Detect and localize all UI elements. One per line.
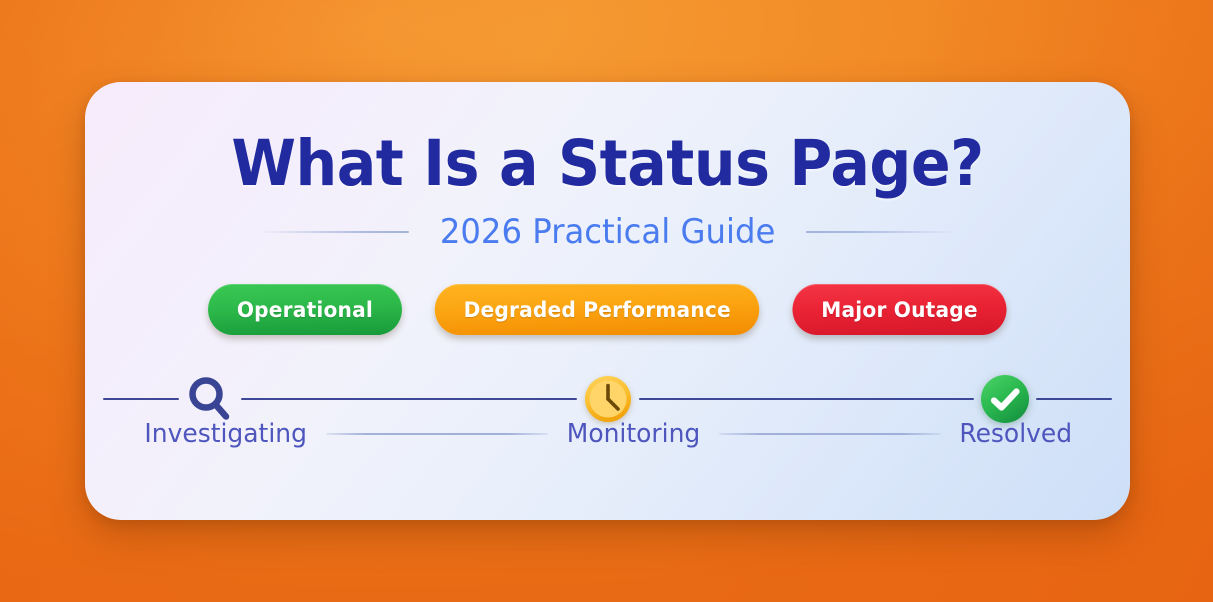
subtitle-rule-left xyxy=(257,231,409,233)
timeline-connector-start xyxy=(103,398,179,400)
label-connector-1 xyxy=(326,433,548,435)
page-subtitle: 2026 Practical Guide xyxy=(440,212,775,252)
clock-icon xyxy=(583,374,633,424)
status-badge-degraded-performance[interactable]: Degraded Performance xyxy=(434,284,759,335)
timeline-label-monitoring: Monitoring xyxy=(567,419,700,449)
timeline-connector-end xyxy=(1036,398,1112,400)
timeline-label-row: Investigating Monitoring Resolved xyxy=(85,419,1130,449)
incident-lifecycle-timeline: Investigating Monitoring Resolved xyxy=(85,369,1130,469)
status-badge-group: Operational Degraded Performance Major O… xyxy=(85,284,1130,335)
page-title: What Is a Status Page? xyxy=(122,130,1094,198)
subtitle-row: 2026 Practical Guide xyxy=(85,212,1130,252)
timeline-connector-1 xyxy=(241,398,577,400)
status-badge-operational[interactable]: Operational xyxy=(208,284,402,335)
status-badge-major-outage[interactable]: Major Outage xyxy=(793,284,1007,335)
check-circle-icon xyxy=(979,373,1031,425)
timeline-label-resolved: Resolved xyxy=(959,419,1072,449)
magnifier-icon xyxy=(187,375,233,423)
label-connector-2 xyxy=(719,433,941,435)
hero-card: What Is a Status Page? 2026 Practical Gu… xyxy=(85,82,1130,520)
subtitle-rule-right xyxy=(806,231,958,233)
timeline-label-investigating: Investigating xyxy=(144,419,307,449)
timeline-connector-2 xyxy=(639,398,975,400)
